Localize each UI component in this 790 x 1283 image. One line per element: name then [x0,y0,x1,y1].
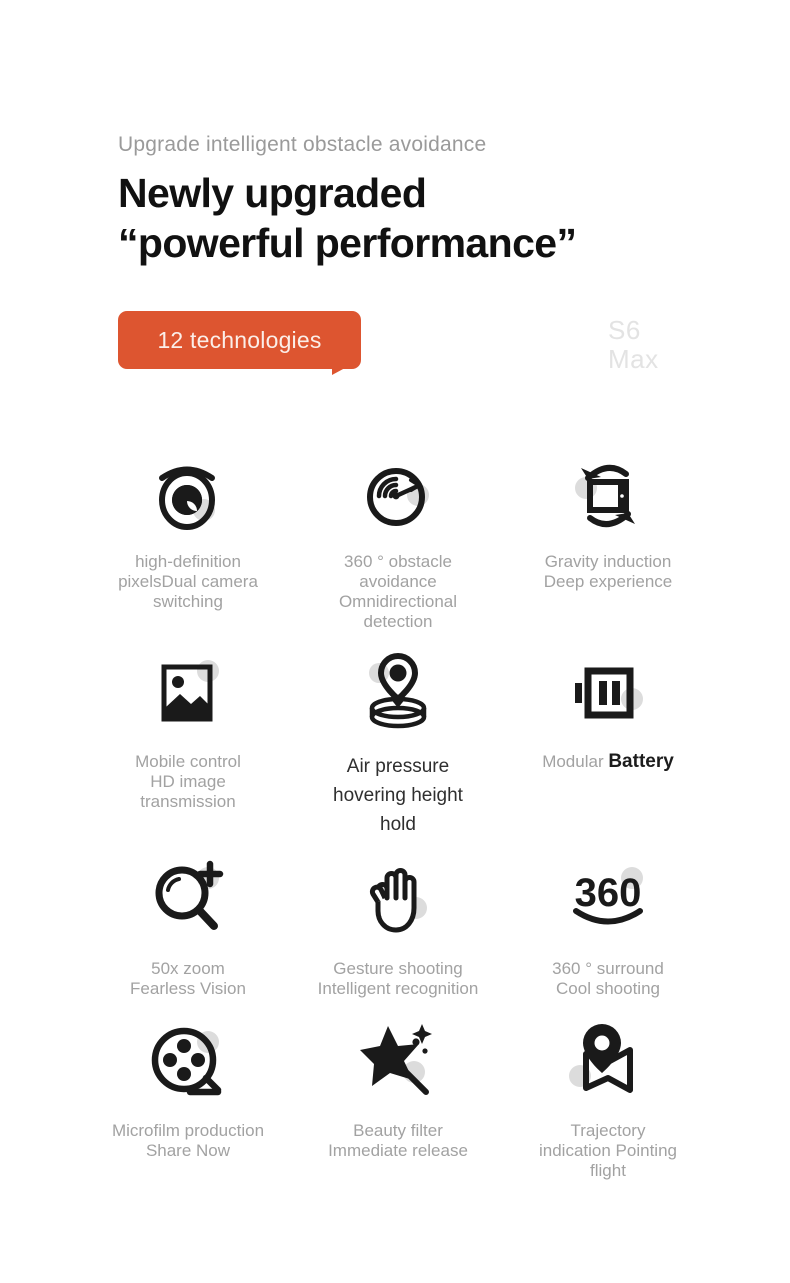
caption-line: Trajectory [508,1121,708,1141]
page-header: Upgrade intelligent obstacle avoidance N… [118,130,718,268]
feature-caption: Trajectory indication Pointing flight [508,1121,708,1181]
caption-line: avoidance [298,572,498,592]
caption-line: Mobile control [88,752,288,772]
feature-caption: Air pressure hovering height hold [298,752,498,839]
film-reel-icon [142,1019,234,1105]
caption-line: Share Now [88,1141,288,1161]
feature-cell-beauty-filter[interactable]: Beauty filter Immediate release [293,1019,503,1181]
feature-caption: Mobile control HD image transmission [88,752,288,812]
caption-line: detection [298,612,498,632]
feature-cell-360-surround[interactable]: 360 360 ° surround Cool shooting [503,855,713,999]
badge-bubble[interactable]: 12 technologies [118,311,361,369]
headline-line-1: Newly upgraded [118,168,718,218]
caption-line: transmission [88,792,288,812]
caption-line: Deep experience [508,572,708,592]
technologies-badge[interactable]: 12 technologies [118,311,361,379]
feature-caption: 50x zoom Fearless Vision [88,959,288,999]
caption-line: Intelligent recognition [298,979,498,999]
caption-line: switching [88,592,288,612]
map-pin-icon [562,1019,654,1105]
feature-cell-camera-eye[interactable]: high-definition pixelsDual camera switch… [83,452,293,632]
magic-wand-star-icon [352,1019,444,1105]
hand-gesture-icon [352,855,444,941]
camera-eye-icon [142,452,234,540]
feature-caption: Microfilm production Share Now [88,1121,288,1161]
360-surround-icon: 360 [562,855,654,941]
feature-cell-air-pressure[interactable]: Air pressure hovering height hold [293,650,503,839]
page-title: Newly upgraded “powerful performance” [118,168,718,268]
caption-line: high-definition [88,552,288,572]
feature-cell-gesture[interactable]: Gesture shooting Intelligent recognition [293,855,503,999]
magnifier-plus-icon [142,855,234,941]
caption-line: pixelsDual camera [88,572,288,592]
feature-cell-zoom[interactable]: 50x zoom Fearless Vision [83,855,293,999]
icon-360-text: 360 [575,871,642,915]
feature-cell-trajectory[interactable]: Trajectory indication Pointing flight [503,1019,713,1181]
radar-sonar-icon [352,452,444,540]
caption-prefix: Modular [542,752,608,771]
caption-line: Air pressure [298,752,498,781]
caption-line: Microfilm production [88,1121,288,1141]
caption-line: Immediate release [298,1141,498,1161]
caption-line: flight [508,1161,708,1181]
feature-row: 50x zoom Fearless Vision Gesture shootin… [0,855,790,999]
caption-line: Gesture shooting [298,959,498,979]
feature-row: Mobile control HD image transmission [0,650,790,839]
feature-caption: Beauty filter Immediate release [298,1121,498,1161]
caption-line: HD image [88,772,288,792]
feature-cell-radar[interactable]: 360 ° obstacle avoidance Omnidirectional… [293,452,503,632]
caption-line: 360 ° surround [508,959,708,979]
feature-caption: Gravity induction Deep experience [508,552,708,592]
feature-row: Microfilm production Share Now Beauty fi… [0,1019,790,1181]
caption-line: hold [298,810,498,839]
caption-line: hovering height [298,781,498,810]
hover-pin-disc-icon [352,650,444,736]
caption-line: 360 ° obstacle [298,552,498,572]
feature-caption: 360 ° obstacle avoidance Omnidirectional… [298,552,498,632]
caption-line: Fearless Vision [88,979,288,999]
image-photo-icon [142,650,234,736]
caption-line: 50x zoom [88,959,288,979]
watermark-line-1: S6 [608,316,659,345]
feature-cell-gravity[interactable]: Gravity induction Deep experience [503,452,713,632]
watermark-line-2: Max [608,345,659,374]
feature-grid: high-definition pixelsDual camera switch… [0,452,790,1181]
feature-row: high-definition pixelsDual camera switch… [0,452,790,632]
feature-cell-battery[interactable]: Modular Battery [503,650,713,839]
caption-line: Modular Battery [508,752,708,772]
battery-icon [562,650,654,736]
badge-label: 12 technologies [157,329,321,352]
feature-caption: high-definition pixelsDual camera switch… [88,552,288,612]
product-watermark: S6 Max [608,316,659,374]
device-rotate-icon [562,452,654,540]
caption-line: Beauty filter [298,1121,498,1141]
feature-caption: Modular Battery [508,752,708,772]
caption-line: Cool shooting [508,979,708,999]
caption-line: Omnidirectional [298,592,498,612]
headline-line-2: “powerful performance” [118,218,718,268]
caption-line: Gravity induction [508,552,708,572]
caption-strong: Battery [608,751,673,772]
caption-line: indication Pointing [508,1141,708,1161]
badge-tail [332,361,358,375]
eyebrow-text: Upgrade intelligent obstacle avoidance [118,130,718,160]
feature-cell-microfilm[interactable]: Microfilm production Share Now [83,1019,293,1181]
feature-caption: 360 ° surround Cool shooting [508,959,708,999]
feature-cell-mobile-control[interactable]: Mobile control HD image transmission [83,650,293,839]
feature-caption: Gesture shooting Intelligent recognition [298,959,498,999]
